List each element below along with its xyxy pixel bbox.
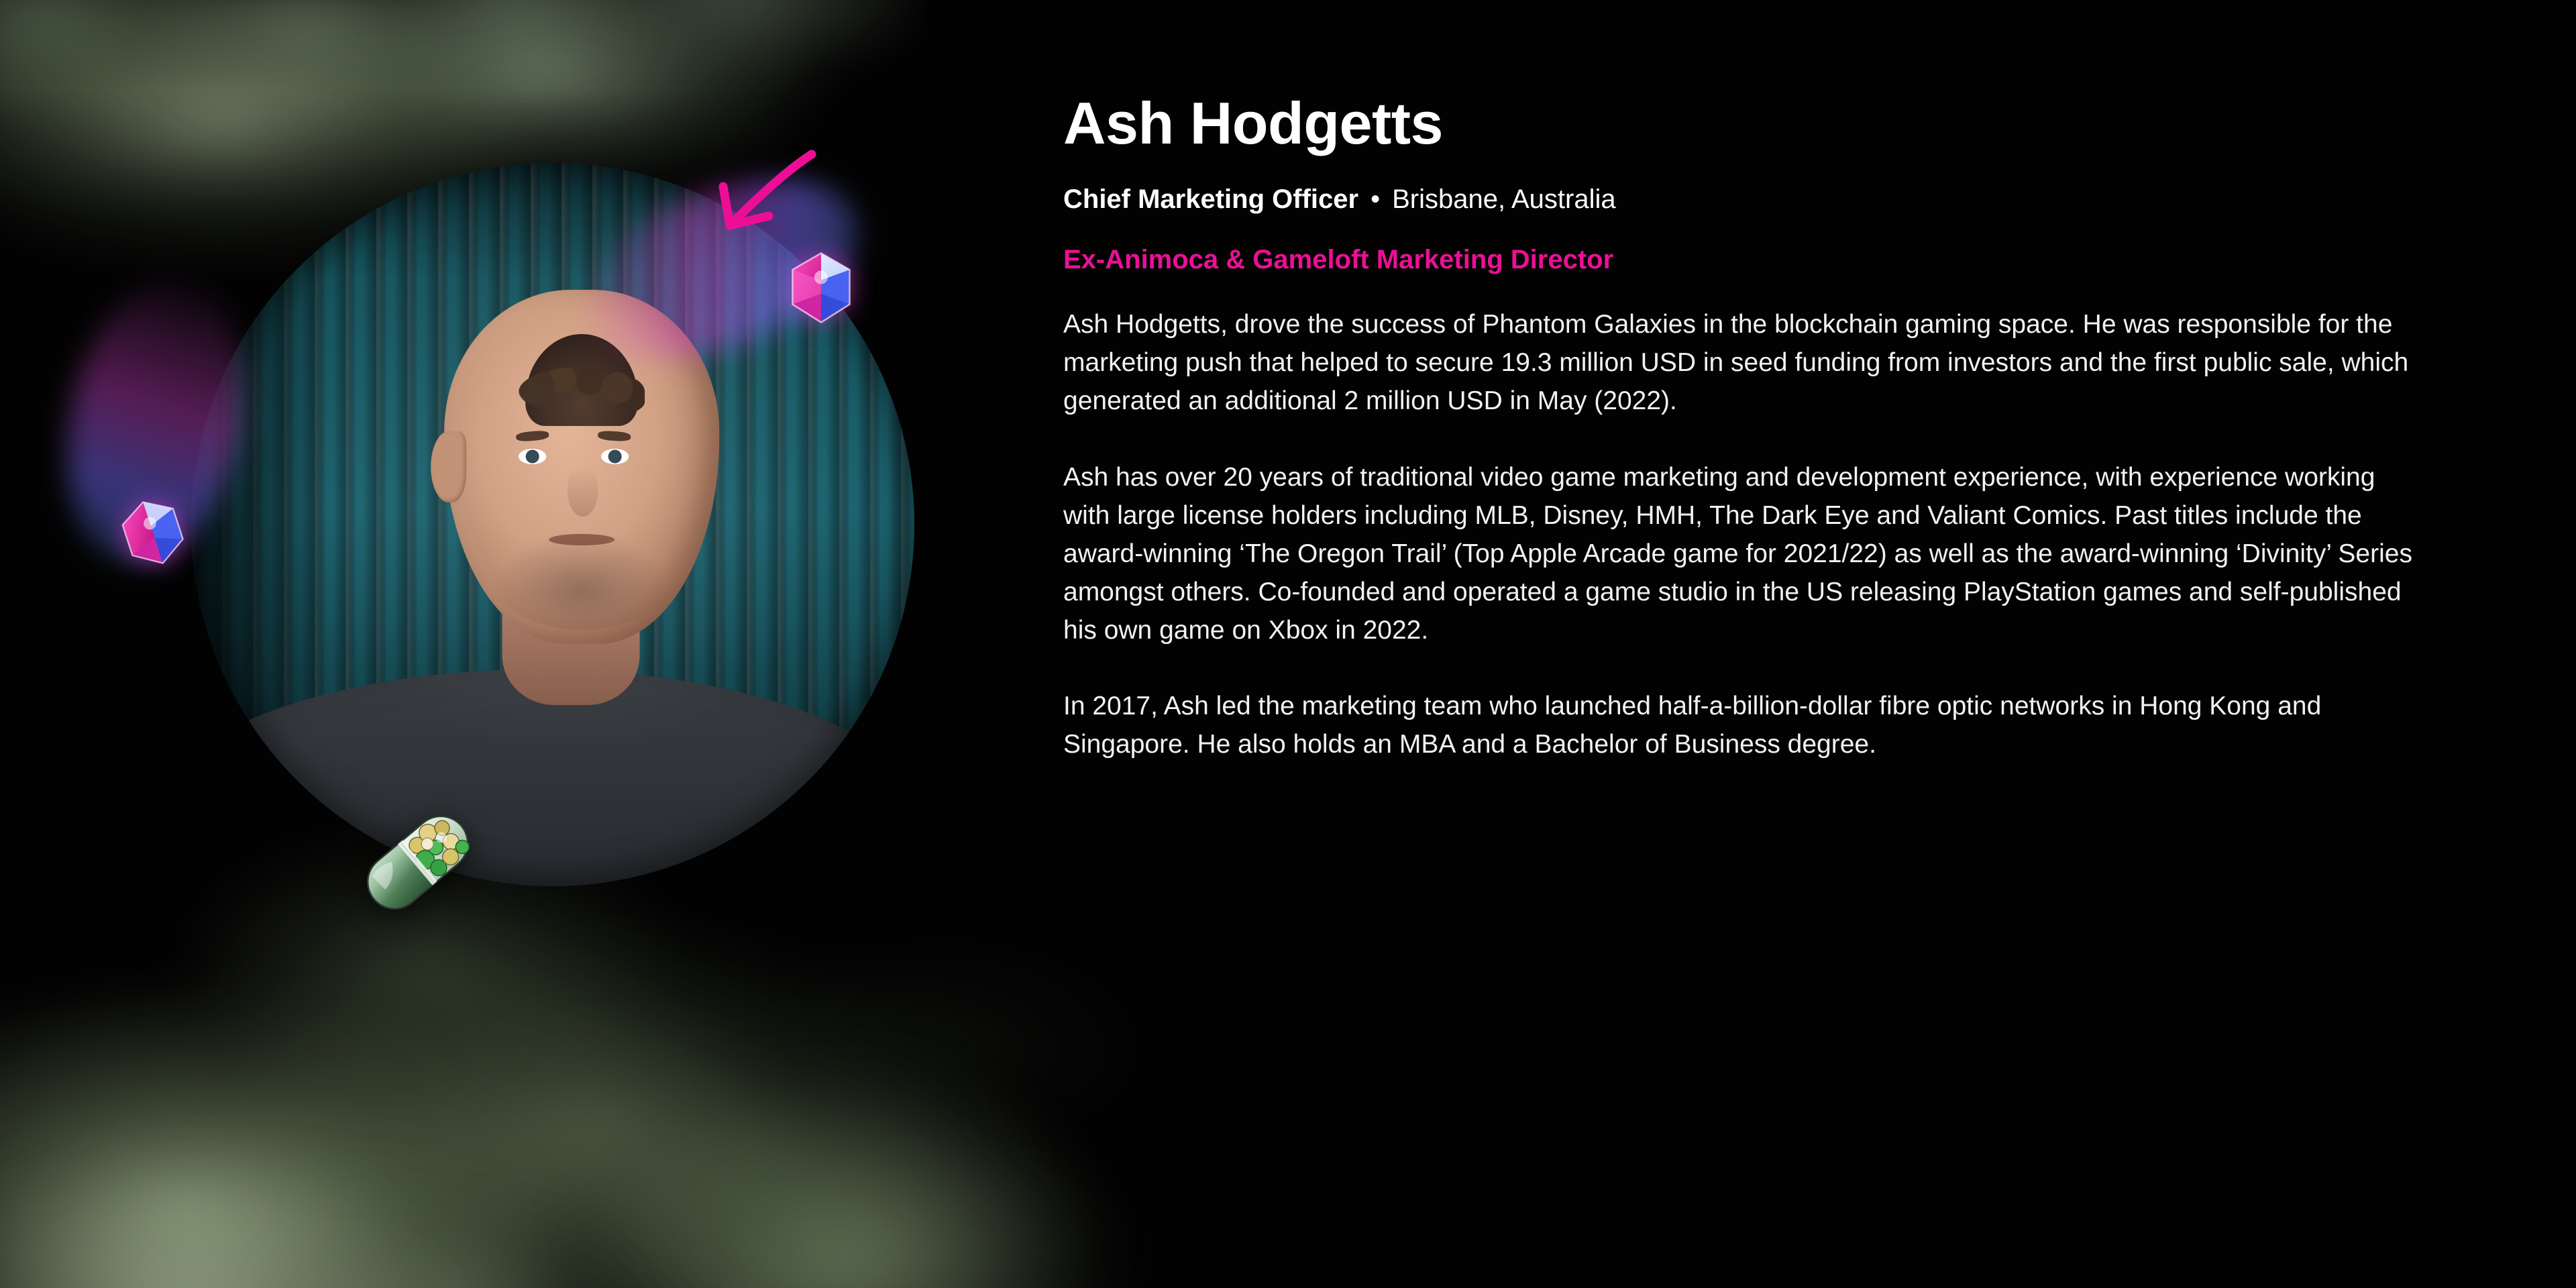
smoke-cloud-bottom-highlight	[0, 939, 785, 1288]
meta-separator: •	[1358, 184, 1392, 214]
profile-content: Ash Hodgetts Chief Marketing Officer•Bri…	[1063, 0, 2438, 1288]
subject-eye-right	[601, 449, 629, 464]
job-title: Chief Marketing Officer	[1063, 184, 1358, 214]
subject-ear	[431, 431, 466, 502]
subject-head	[444, 290, 719, 644]
portrait-container	[191, 163, 914, 886]
bio-paragraph: Ash has over 20 years of traditional vid…	[1063, 459, 2428, 650]
avatar	[191, 163, 914, 886]
bio-paragraph: Ash Hodgetts, drove the success of Phant…	[1063, 306, 2428, 421]
profile-bio: Ash Hodgetts, drove the success of Phant…	[1063, 306, 2438, 764]
profile-meta: Chief Marketing Officer•Brisbane, Austra…	[1063, 182, 2438, 216]
subject-brow-right	[598, 430, 631, 441]
location-label: Brisbane, Australia	[1392, 184, 1616, 214]
subject-brow-left	[515, 430, 549, 442]
profile-tagline: Ex-Animoca & Gameloft Marketing Director	[1063, 243, 2438, 276]
bio-paragraph: In 2017, Ash led the marketing team who …	[1063, 688, 2428, 764]
page-title: Ash Hodgetts	[1063, 94, 2438, 153]
portrait-subject	[191, 163, 914, 886]
subject-eye-left	[519, 449, 546, 464]
subject-beard-shadow	[483, 495, 681, 630]
profile-card: Ash Hodgetts Chief Marketing Officer•Bri…	[0, 0, 2576, 1288]
subject-hair	[525, 334, 638, 426]
crystal-gem-icon-left	[118, 498, 188, 568]
crystal-gem-icon	[118, 498, 188, 568]
